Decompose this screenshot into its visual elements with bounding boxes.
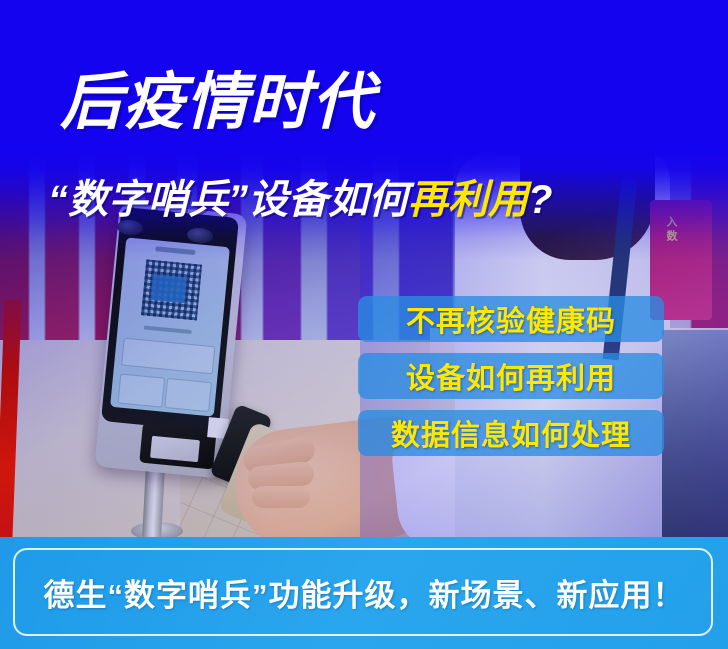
banner-text: 德生“数字哨兵”功能升级，新场景、新应用！ <box>0 537 728 647</box>
bottom-banner: 德生“数字哨兵”功能升级，新场景、新应用！ <box>0 537 728 649</box>
bullet-pill-list: 不再核验健康码 设备如何再利用 数据信息如何处理 <box>358 296 664 467</box>
bullet-pill[interactable]: 数据信息如何处理 <box>358 410 664 456</box>
poster-root: 入 数 后疫情时代 “数字哨兵”设备如何再利用? 不再核验健康码 设备如何再利用… <box>0 0 728 649</box>
page-title: 后疫情时代 <box>60 72 375 134</box>
bullet-pill-label: 数据信息如何处理 <box>391 412 631 454</box>
bullet-pill[interactable]: 设备如何再利用 <box>358 353 664 399</box>
subtitle-part-1: “数字哨兵”设备如何 <box>48 178 408 222</box>
subtitle-highlight: 再利用 <box>408 178 528 222</box>
subtitle-question-mark: ? <box>528 178 552 222</box>
bullet-pill-label: 设备如何再利用 <box>406 355 616 397</box>
bullet-pill-label: 不再核验健康码 <box>406 298 616 340</box>
page-subtitle: “数字哨兵”设备如何再利用? <box>48 178 552 222</box>
bullet-pill[interactable]: 不再核验健康码 <box>358 296 664 342</box>
